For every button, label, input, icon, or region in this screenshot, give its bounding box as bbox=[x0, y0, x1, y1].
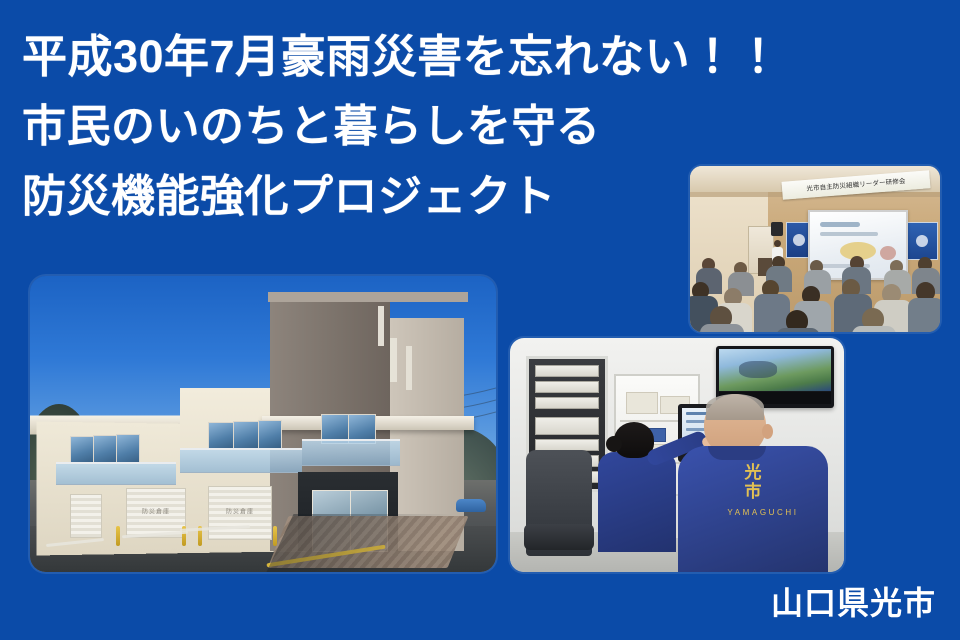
seminar-photo-content: 光市自主防災組織リーダー研修会 bbox=[690, 166, 940, 332]
uniform-back-print: 光 市 YAMAGUCHI bbox=[720, 464, 806, 520]
garage-shutter bbox=[70, 494, 102, 538]
balcony-rail bbox=[302, 439, 400, 466]
staff-member-female bbox=[598, 422, 676, 552]
window bbox=[233, 421, 259, 450]
building-tower-cap bbox=[268, 292, 468, 302]
audience-body bbox=[776, 328, 820, 332]
audience-body bbox=[852, 326, 896, 332]
photo-disaster-prevention-building: 防災倉庫 防災倉庫 bbox=[30, 276, 496, 572]
staff-hair-bun bbox=[606, 436, 622, 452]
slide-line bbox=[820, 222, 860, 227]
tower-slit bbox=[390, 338, 397, 382]
photo-disaster-leader-seminar: 光市自主防災組織リーダー研修会 bbox=[690, 166, 940, 332]
window bbox=[258, 420, 282, 449]
building-photo-content: 防災倉庫 防災倉庫 bbox=[30, 276, 496, 572]
garage-shutter: 防災倉庫 bbox=[208, 486, 272, 540]
shutter-label: 防災倉庫 bbox=[142, 507, 170, 516]
audience-body bbox=[754, 294, 790, 332]
flag-emblem bbox=[793, 234, 805, 246]
tower-slit bbox=[378, 306, 384, 346]
rack-unit bbox=[535, 417, 599, 435]
uniform-collar bbox=[708, 446, 766, 460]
tower-slit bbox=[406, 346, 412, 390]
presenter-head bbox=[774, 240, 781, 247]
audience-body bbox=[700, 324, 744, 332]
window bbox=[70, 436, 94, 464]
bollard bbox=[116, 526, 120, 546]
headline-line-2: 市民のいのちと暮らしを守る bbox=[22, 92, 922, 162]
balcony-rail bbox=[56, 462, 176, 485]
window bbox=[93, 435, 117, 464]
audience-body bbox=[908, 298, 940, 332]
seminar-banner-text: 光市自主防災組織リーダー研修会 bbox=[806, 177, 906, 194]
window bbox=[116, 434, 140, 464]
slide-line bbox=[820, 232, 878, 236]
uniform-kanji: 光 市 bbox=[745, 463, 782, 501]
photo-operations-room: 光 市 YAMAGUCHI bbox=[510, 338, 844, 572]
tv-screen bbox=[719, 349, 831, 391]
staff-uniform bbox=[598, 452, 676, 552]
chair-seat bbox=[524, 524, 594, 550]
rack-unit bbox=[535, 381, 599, 393]
rack-unit bbox=[535, 365, 599, 377]
city-credit: 山口県光市 bbox=[771, 578, 936, 624]
shutter-label: 防災倉庫 bbox=[226, 506, 254, 515]
headline-line-1: 平成30年7月豪雨災害を忘れない！！ bbox=[22, 22, 922, 92]
window bbox=[208, 422, 234, 450]
storage-box bbox=[626, 392, 658, 414]
balcony-rail bbox=[180, 448, 302, 473]
rack-unit bbox=[535, 397, 599, 409]
poster-canvas: 平成30年7月豪雨災害を忘れない！！ 市民のいのちと暮らしを守る 防災機能強化プ… bbox=[0, 0, 960, 640]
parked-car bbox=[456, 499, 486, 512]
office-chair bbox=[526, 450, 592, 556]
staff-ear bbox=[762, 424, 773, 439]
audience bbox=[690, 254, 940, 332]
flag-emblem bbox=[916, 235, 928, 247]
uniform-romaji: YAMAGUCHI bbox=[727, 508, 798, 517]
staff-member-male: 光 市 YAMAGUCHI bbox=[678, 394, 828, 572]
ceiling-speaker bbox=[771, 222, 783, 236]
operations-photo-content: 光 市 YAMAGUCHI bbox=[510, 338, 844, 572]
staff-hair bbox=[706, 394, 764, 420]
